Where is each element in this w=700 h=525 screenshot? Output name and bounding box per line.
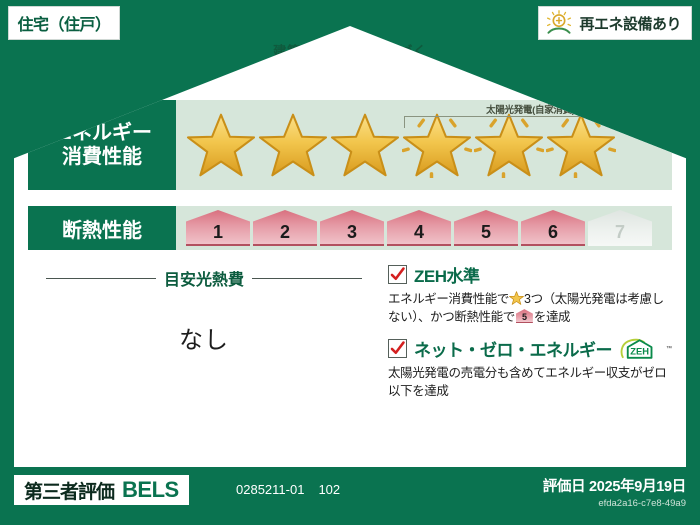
zeh-logo-trademark: ™ [666,346,672,352]
content-card-inner: エネルギー 消費性能 [14,96,686,467]
energy-performance-label: エネルギー 消費性能 [28,100,176,190]
insulation-performance-label: 断熱性能 [28,206,176,250]
insulation-grade-3: 3 [320,210,384,246]
insulation-grade-6: 6 [521,210,585,246]
star-icon [330,112,400,178]
star-icon-inline [509,291,524,305]
grade-value: 7 [615,222,625,243]
zeh-standard-header: ZEH水準 [388,262,672,287]
zeh-net-zero-description: 太陽光発電の売電分も含めてエネルギー収支がゼロ以下を達成 [388,364,672,400]
certificate-suffix: 102 [318,482,340,497]
lower-section: 目安光熱費 なし ZEH水準 エネルギー消費性能で [28,262,672,461]
insulation-grade-4: 4 [387,210,451,246]
zeh-item-standard: ZEH水準 エネルギー消費性能で3つ（太陽光発電は考慮しない）、かつ断熱性能で5… [388,262,672,326]
renewable-energy-badge: 再エネ設備あり [538,6,692,40]
grade-value: 3 [347,222,357,243]
energy-performance-row: エネルギー 消費性能 [28,100,672,190]
insulation-performance-row: 断熱性能 1 2 3 4 5 6 7 [28,206,672,250]
checkbox-checked-icon[interactable] [388,265,407,284]
heading-rule-left [46,278,156,279]
bottom-bar: 第三者評価 BELS 0285211-01102 評価日 2025年9月19日 … [0,467,700,525]
renewable-energy-badge-label: 再エネ設備あり [579,13,681,34]
star-icon-solar [546,112,616,178]
star-rating [176,100,672,190]
insulation-grade-inline-icon: 5 [516,309,533,323]
certificate-number: 0285211-01 [236,482,304,497]
energy-label-line2: 消費性能 [62,145,142,169]
checkbox-checked-icon[interactable] [388,339,407,358]
zeh-net-zero-header: ネット・ゼロ・エネルギー ZEH ™ [388,336,672,361]
energy-performance-body: 太陽光発電(自家消費)分 [176,100,672,190]
star-icon-solar [402,112,472,178]
bels-badge: 第三者評価 BELS [14,475,189,505]
insulation-grade-2: 2 [253,210,317,246]
insulation-grade-5: 5 [454,210,518,246]
star-icon [258,112,328,178]
svg-text:ZEH: ZEH [630,346,649,356]
third-party-eval-label: 第三者評価 [24,477,114,504]
heading-rule-right [252,278,362,279]
star-icon [186,112,256,178]
certificate-number-group: 0285211-01102 [236,482,354,497]
solar-sun-icon [545,10,573,36]
zeh-desc-part1: エネルギー消費性能で [388,292,509,306]
zeh-item-net-zero: ネット・ゼロ・エネルギー ZEH ™ 太陽光発電の売電分も含めてエネルギー収支が… [388,336,672,400]
energy-label-line1: エネルギー [52,121,152,145]
zeh-standard-description: エネルギー消費性能で3つ（太陽光発電は考慮しない）、かつ断熱性能で5を達成 [388,290,672,326]
evaluation-date: 評価日 2025年9月19日 [543,475,686,496]
zeh-net-zero-title: ネット・ゼロ・エネルギー [414,336,612,361]
utility-cost-section: 目安光熱費 なし [28,262,380,461]
grade-value: 5 [481,222,491,243]
inline-grade-value: 5 [516,309,533,323]
grade-value: 2 [280,222,290,243]
grade-value: 4 [414,222,424,243]
insulation-grade-7: 7 [588,210,652,246]
zeh-desc-part3: を達成 [534,310,570,324]
grade-value: 6 [548,222,558,243]
zeh-criteria-section: ZEH水準 エネルギー消費性能で3つ（太陽光発電は考慮しない）、かつ断熱性能で5… [380,262,672,461]
insulation-grade-scale: 1 2 3 4 5 6 7 [176,206,672,250]
utility-cost-heading-text: 目安光熱費 [164,266,244,290]
star-icon-solar [474,112,544,178]
utility-cost-heading: 目安光熱費 [28,266,380,290]
content-card: エネルギー 消費性能 [14,26,686,467]
energy-performance-label: 建築物省エネ法に基づく 省エネ性能ラベル エネルギー 消費性能 [0,0,700,525]
zeh-standard-title: ZEH水準 [414,262,480,287]
category-badge: 住宅（住戸） [8,6,120,40]
evaluation-date-group: 評価日 2025年9月19日 efda2a16-c7e8-49a9 [543,475,686,509]
bels-logo-text: BELS [122,477,179,503]
insulation-grade-1: 1 [186,210,250,246]
zeh-house-logo-icon: ZEH [619,338,659,360]
document-hash: efda2a16-c7e8-49a9 [543,498,686,509]
insulation-performance-body: 1 2 3 4 5 6 7 [176,206,672,250]
utility-cost-value: なし [28,320,380,355]
grade-value: 1 [213,222,223,243]
